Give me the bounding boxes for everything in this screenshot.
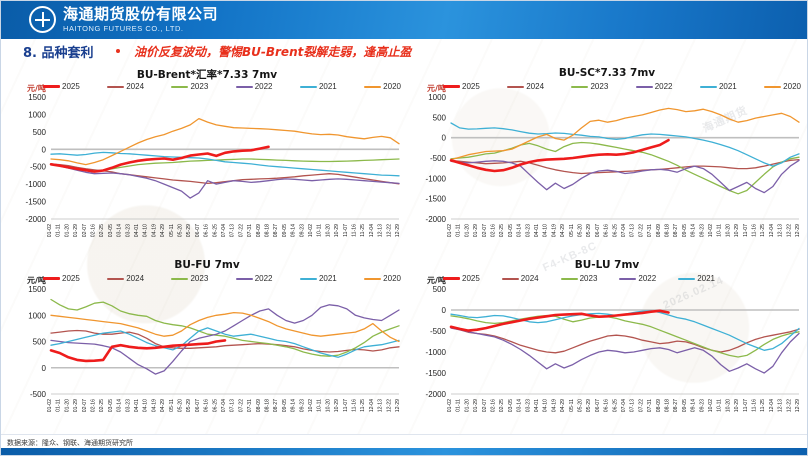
legend-label: 2024	[521, 274, 539, 283]
legend-swatch-icon	[300, 278, 317, 280]
x-axis-tick: 02-25	[99, 399, 105, 412]
x-axis-tick: 05-20	[178, 399, 184, 412]
legend-item-2024: 2024	[107, 274, 144, 283]
legend-swatch-icon	[443, 277, 460, 280]
x-axis-tick: 04-19	[551, 224, 557, 237]
chart-legend: 202520242023202220212020	[443, 82, 801, 91]
series-line-2022	[451, 160, 799, 192]
y-axis-tick: -500	[30, 163, 47, 172]
legend-swatch-icon	[236, 278, 253, 280]
x-axis-tick: 11-16	[752, 399, 758, 412]
legend-label: 2021	[697, 274, 715, 283]
legend-item-2023: 2023	[171, 274, 208, 283]
legend-label: 2025	[62, 82, 80, 91]
x-axis-tick: 01-02	[447, 399, 453, 412]
x-axis-tick: 09-23	[699, 224, 705, 237]
x-axis-tick: 09-05	[282, 399, 288, 412]
x-axis-tick: 08-27	[673, 399, 679, 412]
legend-item-2023: 2023	[561, 274, 598, 283]
y-axis-tick: 0	[42, 364, 47, 373]
series-line-2023	[51, 159, 399, 171]
chart-panel-bu-brent: BU-Brent*汇率*7.33 7mv 元/吨 202520242023202…	[9, 67, 405, 259]
series-line-2020	[51, 313, 399, 342]
company-logo: 海通期货股份有限公司 HAITONG FUTURES CO., LTD.	[29, 6, 218, 33]
chart-svg: 150010005000-500-1000-1500-200001-0201-1…	[9, 93, 405, 255]
x-axis-tick: 07-22	[238, 399, 244, 412]
x-axis-tick: 12-29	[395, 399, 401, 412]
legend-item-2021: 2021	[678, 274, 715, 283]
x-axis-tick: 12-13	[778, 224, 784, 237]
legend-label: 2024	[126, 274, 144, 283]
x-axis-tick: 12-22	[786, 399, 792, 412]
series-line-2021	[51, 152, 399, 175]
x-axis-tick: 07-13	[630, 224, 636, 237]
x-axis-tick: 12-22	[386, 399, 392, 412]
x-axis-tick: 03-05	[108, 224, 114, 237]
x-axis-tick: 05-11	[569, 399, 575, 412]
y-axis-tick: 1500	[28, 285, 46, 294]
legend-label: 2023	[190, 82, 208, 91]
x-axis-tick: 03-14	[517, 399, 523, 412]
x-axis-tick: 09-05	[282, 224, 288, 237]
x-axis-tick: 02-25	[499, 399, 505, 412]
x-axis-tick: 09-14	[291, 399, 297, 412]
x-axis-tick: 10-29	[334, 399, 340, 412]
x-axis-tick: 10-11	[317, 399, 323, 412]
x-axis-tick: 05-11	[569, 224, 575, 237]
x-axis-tick: 02-07	[82, 399, 88, 412]
legend-label: 2025	[62, 274, 80, 283]
y-axis-tick: -500	[430, 154, 447, 163]
x-axis-tick: 12-29	[395, 224, 401, 237]
chart-title: BU-LU 7mv	[409, 259, 805, 271]
x-axis-tick: 02-07	[482, 224, 488, 237]
x-axis-tick: 11-16	[352, 224, 358, 237]
brand-header: 海通期货股份有限公司 HAITONG FUTURES CO., LTD.	[1, 1, 808, 39]
bullet-icon	[116, 49, 120, 53]
legend-swatch-icon	[571, 86, 588, 88]
legend-item-2025: 2025	[43, 274, 80, 283]
legend-swatch-icon	[502, 278, 519, 280]
x-axis-tick: 05-11	[169, 399, 175, 412]
legend-swatch-icon	[619, 278, 636, 280]
x-axis-tick: 03-23	[525, 224, 531, 237]
x-axis-tick: 12-13	[378, 224, 384, 237]
chart-title: BU-FU 7mv	[9, 259, 405, 271]
x-axis-tick: 06-16	[204, 399, 210, 412]
legend-swatch-icon	[364, 278, 381, 280]
x-axis-tick: 01-20	[64, 399, 70, 412]
x-axis-tick: 12-29	[795, 224, 801, 237]
legend-swatch-icon	[678, 278, 695, 280]
x-axis-tick: 11-25	[760, 399, 766, 412]
x-axis-tick: 08-27	[673, 224, 679, 237]
legend-label: 2020	[383, 82, 401, 91]
chart-plot-area: 150010005000-500-1000-1500-200001-0201-1…	[9, 93, 405, 255]
legend-swatch-icon	[171, 86, 188, 88]
legend-item-2021: 2021	[300, 82, 337, 91]
x-axis-tick: 01-20	[464, 224, 470, 237]
legend-swatch-icon	[443, 85, 460, 88]
x-axis-tick: 01-02	[47, 399, 53, 412]
legend-item-2022: 2022	[619, 274, 656, 283]
x-axis-tick: 06-07	[595, 224, 601, 237]
x-axis-tick: 12-04	[769, 224, 775, 237]
x-axis-tick: 12-04	[769, 399, 775, 412]
legend-item-2021: 2021	[300, 274, 337, 283]
chart-panel-bu-lu: BU-LU 7mv 元/吨 20252024202320222021 5000-…	[409, 259, 805, 435]
x-axis-tick: 03-05	[108, 399, 114, 412]
y-axis-tick: 500	[433, 285, 447, 294]
x-axis-tick: 10-20	[325, 224, 331, 237]
x-axis-tick: 11-07	[743, 224, 749, 237]
x-axis-tick: 01-29	[73, 399, 79, 412]
x-axis-tick: 04-10	[143, 224, 149, 237]
legend-swatch-icon	[171, 278, 188, 280]
legend-item-2025: 2025	[443, 82, 480, 91]
x-axis-tick: 05-29	[586, 224, 592, 237]
slide-canvas: F4-KB-8C 2026.02.14 海通期货 海通期货股份有限公司 HAIT…	[0, 0, 808, 456]
x-axis-tick: 10-20	[725, 399, 731, 412]
slide-title-row: 8. 品种套利 油价反复波动，警惕BU-Brent裂解走弱，逢高止盈	[1, 39, 808, 65]
x-axis-tick: 04-01	[134, 224, 140, 237]
legend-label: 2020	[783, 82, 801, 91]
legend-label: 2023	[580, 274, 598, 283]
x-axis-tick: 01-11	[456, 399, 462, 412]
series-line-2022	[451, 328, 799, 373]
chart-legend: 20252024202320222021	[443, 274, 801, 283]
legend-label: 2023	[190, 274, 208, 283]
legend-label: 2024	[526, 82, 544, 91]
y-axis-tick: 500	[33, 338, 47, 347]
legend-label: 2025	[462, 274, 480, 283]
series-line-2023	[51, 300, 399, 357]
x-axis-tick: 05-29	[186, 224, 192, 237]
x-axis-tick: 10-29	[734, 399, 740, 412]
x-axis-tick: 11-07	[343, 399, 349, 412]
legend-swatch-icon	[636, 86, 653, 88]
x-axis-tick: 08-18	[265, 224, 271, 237]
x-axis-tick: 11-25	[760, 224, 766, 237]
x-axis-tick: 06-25	[612, 224, 618, 237]
y-axis-tick: 0	[442, 306, 447, 315]
x-axis-tick: 08-09	[656, 399, 662, 412]
x-axis-tick: 04-10	[543, 224, 549, 237]
x-axis-tick: 10-20	[725, 224, 731, 237]
y-axis-tick: -1500	[26, 198, 47, 207]
y-axis-tick: 1000	[28, 311, 46, 320]
x-axis-tick: 08-18	[265, 399, 271, 412]
x-axis-tick: 01-11	[56, 399, 62, 412]
legend-swatch-icon	[236, 86, 253, 88]
x-axis-tick: 01-20	[464, 399, 470, 412]
chart-plot-area: 5000-500-1000-1500-200001-0201-1101-2001…	[409, 285, 805, 430]
section-number: 8. 品种套利	[23, 42, 94, 61]
x-axis-tick: 10-29	[334, 224, 340, 237]
x-axis-tick: 05-20	[578, 399, 584, 412]
legend-swatch-icon	[43, 277, 60, 280]
x-axis-tick: 04-19	[151, 224, 157, 237]
slide-footer: 数据来源：隆众、钢联、海通期货研究所	[1, 434, 808, 455]
series-line-2025	[451, 311, 669, 331]
x-axis-tick: 08-27	[273, 224, 279, 237]
x-axis-tick: 12-04	[369, 399, 375, 412]
y-axis-tick: -2000	[426, 215, 447, 224]
legend-label: 2022	[638, 274, 656, 283]
legend-label: 2022	[655, 82, 673, 91]
legend-item-2020: 2020	[364, 274, 401, 283]
legend-label: 2021	[319, 274, 337, 283]
legend-label: 2020	[383, 274, 401, 283]
series-line-2020	[451, 108, 799, 159]
x-axis-tick: 01-11	[456, 224, 462, 237]
x-axis-tick: 09-23	[299, 224, 305, 237]
y-axis-tick: -1500	[426, 369, 447, 378]
chart-plot-area: 10005000-500-1000-1500-200001-0201-1101-…	[409, 93, 805, 255]
x-axis-tick: 10-11	[717, 399, 723, 412]
x-axis-tick: 09-05	[682, 399, 688, 412]
x-axis-tick: 09-05	[682, 224, 688, 237]
x-axis-tick: 08-27	[273, 399, 279, 412]
x-axis-tick: 09-14	[291, 224, 297, 237]
x-axis-tick: 06-07	[195, 224, 201, 237]
x-axis-tick: 04-19	[151, 399, 157, 412]
x-axis-tick: 02-25	[499, 224, 505, 237]
legend-swatch-icon	[364, 86, 381, 88]
x-axis-tick: 07-04	[221, 399, 227, 412]
x-axis-tick: 07-04	[221, 224, 227, 237]
chart-plot-area: 150010005000-50001-0201-1101-2001-2902-0…	[9, 285, 405, 430]
x-axis-tick: 04-29	[560, 224, 566, 237]
y-axis-tick: -2000	[26, 215, 47, 224]
legend-item-2024: 2024	[107, 82, 144, 91]
x-axis-tick: 03-23	[525, 399, 531, 412]
x-axis-tick: 07-31	[247, 224, 253, 237]
y-axis-tick: 1000	[28, 110, 46, 119]
legend-swatch-icon	[764, 86, 781, 88]
x-axis-tick: 04-10	[143, 399, 149, 412]
series-line-2021	[451, 311, 799, 351]
x-axis-tick: 09-23	[699, 399, 705, 412]
x-axis-tick: 01-02	[447, 224, 453, 237]
x-axis-tick: 11-07	[743, 399, 749, 412]
x-axis-tick: 12-13	[778, 399, 784, 412]
x-axis-tick: 12-22	[386, 224, 392, 237]
x-axis-tick: 04-01	[534, 399, 540, 412]
chart-panel-bu-sc: BU-SC*7.33 7mv 元/吨 202520242023202220212…	[409, 67, 805, 259]
series-line-2021	[51, 328, 399, 357]
x-axis-tick: 07-13	[230, 224, 236, 237]
y-axis-tick: -500	[430, 327, 447, 336]
x-axis-tick: 04-29	[560, 399, 566, 412]
x-axis-tick: 07-22	[638, 399, 644, 412]
x-axis-tick: 11-07	[343, 224, 349, 237]
chart-legend: 202520242023202220212020	[43, 82, 401, 91]
legend-swatch-icon	[107, 86, 124, 88]
chart-svg: 10005000-500-1000-1500-200001-0201-1101-…	[409, 93, 805, 255]
x-axis-tick: 02-16	[91, 399, 97, 412]
legend-label: 2022	[255, 82, 273, 91]
legend-swatch-icon	[300, 86, 317, 88]
x-axis-tick: 12-29	[795, 399, 801, 412]
legend-label: 2021	[319, 82, 337, 91]
x-axis-tick: 08-09	[256, 399, 262, 412]
x-axis-tick: 05-11	[169, 224, 175, 237]
legend-item-2020: 2020	[764, 82, 801, 91]
y-axis-tick: 500	[33, 128, 47, 137]
x-axis-tick: 05-29	[586, 399, 592, 412]
y-axis-tick: -1000	[426, 348, 447, 357]
x-axis-tick: 01-20	[64, 224, 70, 237]
legend-label: 2024	[126, 82, 144, 91]
x-axis-tick: 01-11	[56, 224, 62, 237]
x-axis-tick: 02-16	[491, 224, 497, 237]
x-axis-tick: 03-05	[508, 399, 514, 412]
legend-item-2024: 2024	[502, 274, 539, 283]
chart-svg: 150010005000-50001-0201-1101-2001-2902-0…	[9, 285, 405, 430]
legend-item-2024: 2024	[507, 82, 544, 91]
x-axis-tick: 05-20	[178, 224, 184, 237]
series-line-2025	[451, 140, 669, 171]
x-axis-tick: 10-02	[308, 224, 314, 237]
x-axis-tick: 02-25	[99, 224, 105, 237]
x-axis-tick: 10-11	[717, 224, 723, 237]
x-axis-tick: 10-20	[325, 399, 331, 412]
company-name-cn: 海通期货股份有限公司	[63, 7, 218, 22]
x-axis-tick: 06-25	[612, 399, 618, 412]
x-axis-tick: 01-02	[47, 224, 53, 237]
footer-band	[1, 448, 808, 455]
y-axis-tick: -1000	[26, 180, 47, 189]
x-axis-tick: 07-22	[638, 224, 644, 237]
company-name-en: HAITONG FUTURES CO., LTD.	[63, 25, 218, 33]
x-axis-tick: 12-04	[369, 224, 375, 237]
legend-item-2022: 2022	[236, 82, 273, 91]
haitong-circle-logo-icon	[29, 6, 56, 33]
x-axis-tick: 02-16	[91, 224, 97, 237]
x-axis-tick: 09-14	[691, 224, 697, 237]
y-axis-tick: 1500	[28, 93, 46, 102]
x-axis-tick: 07-13	[630, 399, 636, 412]
y-axis-tick: 0	[42, 145, 47, 154]
x-axis-tick: 10-29	[734, 224, 740, 237]
x-axis-tick: 02-16	[491, 399, 497, 412]
x-axis-tick: 09-14	[691, 399, 697, 412]
x-axis-tick: 06-25	[212, 399, 218, 412]
x-axis-tick: 04-19	[551, 399, 557, 412]
x-axis-tick: 04-10	[543, 399, 549, 412]
y-axis-tick: 500	[433, 113, 447, 122]
legend-label: 2021	[719, 82, 737, 91]
x-axis-tick: 07-31	[247, 399, 253, 412]
legend-swatch-icon	[43, 85, 60, 88]
legend-item-2025: 2025	[443, 274, 480, 283]
x-axis-tick: 12-22	[786, 224, 792, 237]
legend-item-2021: 2021	[700, 82, 737, 91]
x-axis-tick: 06-16	[204, 224, 210, 237]
page-title: 油价反复波动，警惕BU-Brent裂解走弱，逢高止盈	[134, 43, 411, 60]
x-axis-tick: 03-23	[125, 224, 131, 237]
chart-title: BU-SC*7.33 7mv	[409, 67, 805, 79]
y-axis-tick: 0	[442, 134, 447, 143]
legend-item-2022: 2022	[236, 274, 273, 283]
legend-label: 2025	[462, 82, 480, 91]
legend-item-2020: 2020	[364, 82, 401, 91]
chart-svg: 5000-500-1000-1500-200001-0201-1101-2001…	[409, 285, 805, 430]
legend-label: 2022	[255, 274, 273, 283]
x-axis-tick: 07-31	[647, 224, 653, 237]
x-axis-tick: 10-02	[708, 399, 714, 412]
x-axis-tick: 04-01	[534, 224, 540, 237]
legend-item-2023: 2023	[171, 82, 208, 91]
x-axis-tick: 07-04	[621, 224, 627, 237]
y-axis-tick: -1500	[426, 195, 447, 204]
x-axis-tick: 08-09	[656, 224, 662, 237]
legend-item-2025: 2025	[43, 82, 80, 91]
chart-panel-bu-fu: BU-FU 7mv 元/吨 202520242023202220212020 1…	[9, 259, 405, 435]
x-axis-tick: 09-23	[299, 399, 305, 412]
series-line-2021	[451, 123, 799, 166]
x-axis-tick: 06-16	[604, 399, 610, 412]
x-axis-tick: 08-09	[256, 224, 262, 237]
legend-swatch-icon	[107, 278, 124, 280]
x-axis-tick: 11-16	[352, 399, 358, 412]
x-axis-tick: 06-16	[604, 224, 610, 237]
x-axis-tick: 07-22	[238, 224, 244, 237]
legend-item-2022: 2022	[636, 82, 673, 91]
x-axis-tick: 06-07	[595, 399, 601, 412]
x-axis-tick: 08-18	[665, 399, 671, 412]
y-axis-tick: -1000	[426, 174, 447, 183]
x-axis-tick: 07-31	[647, 399, 653, 412]
x-axis-tick: 06-07	[195, 399, 201, 412]
y-axis-tick: -500	[30, 390, 47, 399]
x-axis-tick: 03-14	[517, 224, 523, 237]
x-axis-tick: 11-25	[360, 399, 366, 412]
series-line-2020	[51, 119, 399, 165]
x-axis-tick: 02-07	[82, 224, 88, 237]
chart-title: BU-Brent*汇率*7.33 7mv	[9, 67, 405, 82]
x-axis-tick: 10-11	[317, 224, 323, 237]
x-axis-tick: 01-29	[473, 224, 479, 237]
x-axis-tick: 05-29	[186, 399, 192, 412]
y-axis-tick: 1000	[428, 93, 446, 102]
x-axis-tick: 08-18	[665, 224, 671, 237]
x-axis-tick: 06-25	[212, 224, 218, 237]
x-axis-tick: 04-01	[134, 399, 140, 412]
y-axis-tick: -2000	[426, 390, 447, 399]
x-axis-tick: 03-23	[125, 399, 131, 412]
legend-swatch-icon	[700, 86, 717, 88]
x-axis-tick: 03-14	[117, 224, 123, 237]
legend-item-2023: 2023	[571, 82, 608, 91]
x-axis-tick: 10-02	[708, 224, 714, 237]
x-axis-tick: 11-16	[752, 224, 758, 237]
x-axis-tick: 12-13	[378, 399, 384, 412]
legend-label: 2023	[590, 82, 608, 91]
x-axis-tick: 07-04	[621, 399, 627, 412]
x-axis-tick: 04-29	[160, 399, 166, 412]
x-axis-tick: 04-29	[160, 224, 166, 237]
x-axis-tick: 01-29	[73, 224, 79, 237]
chart-legend: 202520242023202220212020	[43, 274, 401, 283]
x-axis-tick: 03-05	[508, 224, 514, 237]
x-axis-tick: 01-29	[473, 399, 479, 412]
x-axis-tick: 07-13	[230, 399, 236, 412]
source-note: 数据来源：隆众、钢联、海通期货研究所	[7, 438, 133, 448]
legend-swatch-icon	[507, 86, 524, 88]
x-axis-tick: 02-07	[482, 399, 488, 412]
